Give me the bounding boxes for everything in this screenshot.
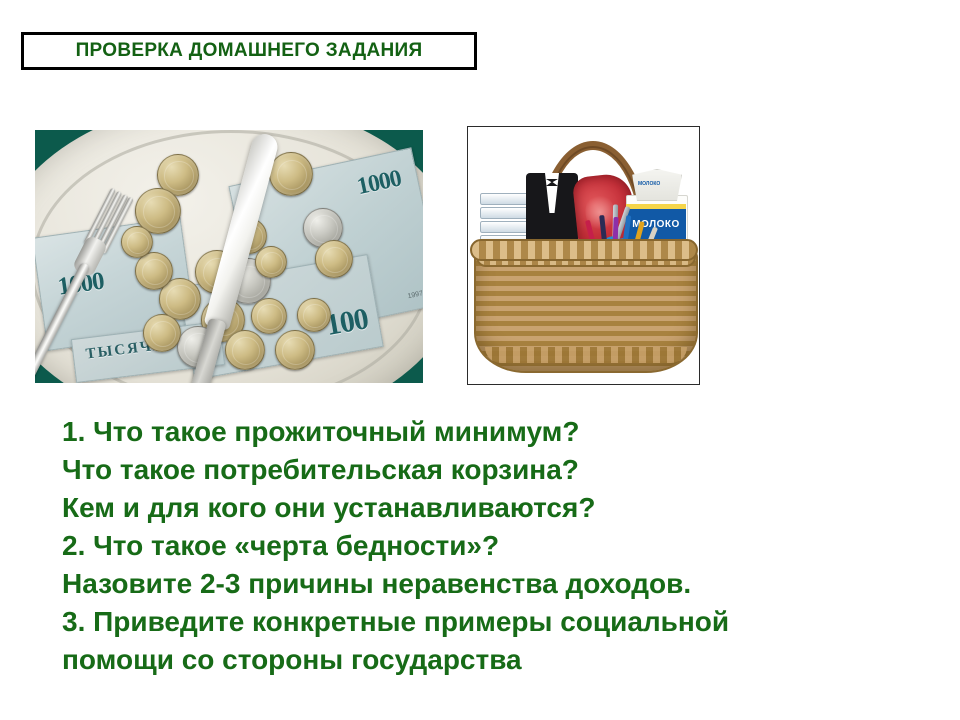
coin [297,298,331,332]
lesson-section-title-box: ПРОВЕРКА ДОМАШНЕГО ЗАДАНИЯ [21,32,477,70]
coin [251,298,287,334]
banknote-denomination-label: 1000 [355,166,404,202]
page-title: ПРОВЕРКА ДОМАШНЕГО ЗАДАНИЯ [76,40,423,62]
question-line: 2. Что такое «черта бедности»? [62,527,922,565]
basket-body [474,247,698,373]
coin [121,226,153,258]
question-line: 1. Что такое прожиточный минимум? [62,413,922,451]
question-line: Кем и для кого они устанавливаются? [62,489,922,527]
banknote-year-label: 1997 [407,290,423,300]
question-line: Назовите 2-3 причины неравенства доходов… [62,565,922,603]
banknote-denomination-label: 100 [323,302,370,343]
basket-rim [470,239,698,261]
photo-consumer-basket: МОЛОКО МОЛОКО [467,126,700,385]
coin [255,246,287,278]
homework-questions-block: 1. Что такое прожиточный минимум? Что та… [62,413,922,679]
coin [135,252,173,290]
question-line: 3. Приведите конкретные примеры социальн… [62,603,922,641]
question-line: Что такое потребительская корзина? [62,451,922,489]
milk-label-small: МОЛОКО [638,181,660,187]
coin [315,240,353,278]
coin [275,330,315,370]
photo-plate-with-money: 1000 1000 1997 100 ТЫСЯЧА [35,130,423,383]
coin [143,314,181,352]
question-line: помощи со стороны государства [62,641,922,679]
